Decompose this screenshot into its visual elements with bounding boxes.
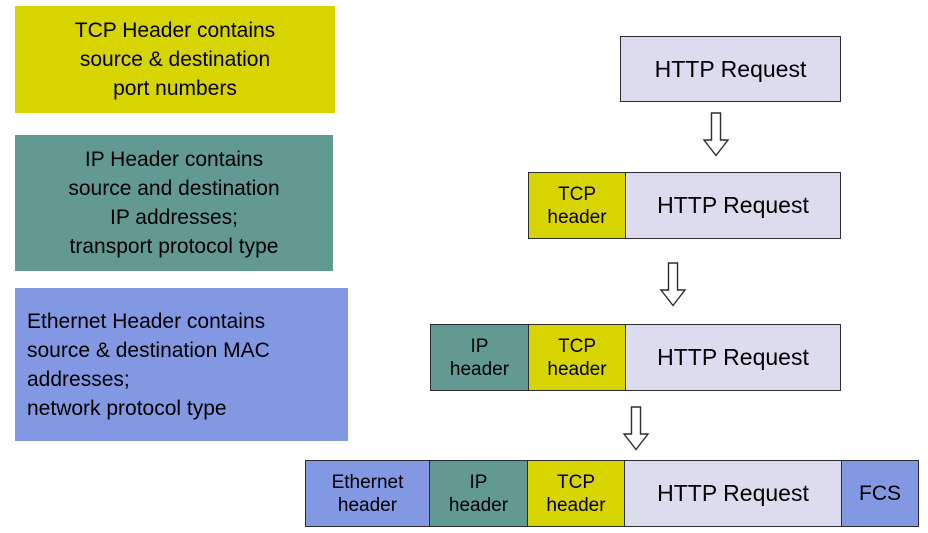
cell-label: Ethernet	[332, 471, 404, 494]
cell-label: HTTP Request	[655, 56, 807, 83]
cell-label: header	[546, 494, 605, 517]
cell-label: HTTP Request	[657, 344, 809, 371]
note-line: transport protocol type	[70, 232, 279, 261]
note-line: source & destination	[80, 45, 270, 74]
cell-label: IP	[471, 335, 489, 358]
cell-label: FCS	[859, 481, 901, 506]
cell-tcp-header: TCP header	[529, 325, 626, 390]
cell-fcs: FCS	[842, 461, 918, 526]
cell-http-request: HTTP Request	[626, 173, 840, 238]
cell-tcp-header: TCP header	[528, 461, 625, 526]
cell-ip-header: IP header	[430, 461, 528, 526]
cell-label: IP	[470, 471, 488, 494]
cell-tcp-header: TCP header	[529, 173, 626, 238]
note-line: TCP Header contains	[75, 16, 275, 45]
pdu-row-datalink: Ethernet header IP header TCP header HTT…	[305, 460, 919, 527]
cell-label: header	[547, 358, 606, 381]
note-line: source and destination	[68, 174, 279, 203]
note-line: addresses;	[27, 365, 130, 394]
down-arrow-icon	[622, 406, 650, 451]
note-line: port numbers	[113, 74, 237, 103]
note-line: IP addresses;	[110, 203, 238, 232]
cell-label: header	[547, 206, 606, 229]
note-line: Ethernet Header contains	[27, 307, 265, 336]
cell-http-request: HTTP Request	[625, 461, 842, 526]
cell-ip-header: IP header	[431, 325, 529, 390]
cell-label: TCP	[558, 183, 596, 206]
cell-http-request: HTTP Request	[621, 37, 840, 101]
cell-label: TCP	[558, 335, 596, 358]
pdu-row-transport: TCP header HTTP Request	[528, 172, 841, 239]
down-arrow-icon	[659, 262, 687, 307]
ip-header-note: IP Header contains source and destinatio…	[15, 135, 333, 271]
note-line: source & destination MAC	[27, 336, 270, 365]
cell-label: header	[449, 494, 508, 517]
cell-label: TCP	[557, 471, 595, 494]
note-line: IP Header contains	[85, 145, 263, 174]
cell-label: header	[338, 494, 397, 517]
note-line: network protocol type	[27, 394, 227, 423]
pdu-row-network: IP header TCP header HTTP Request	[430, 324, 841, 391]
cell-ethernet-header: Ethernet header	[306, 461, 430, 526]
cell-label: header	[450, 358, 509, 381]
cell-label: HTTP Request	[657, 480, 809, 507]
cell-label: HTTP Request	[657, 192, 809, 219]
ethernet-header-note: Ethernet Header contains source & destin…	[15, 288, 348, 441]
down-arrow-icon	[702, 112, 730, 157]
tcp-header-note: TCP Header contains source & destination…	[15, 6, 335, 113]
encapsulation-diagram: TCP Header contains source & destination…	[0, 0, 928, 533]
cell-http-request: HTTP Request	[626, 325, 840, 390]
pdu-row-application: HTTP Request	[620, 36, 841, 102]
